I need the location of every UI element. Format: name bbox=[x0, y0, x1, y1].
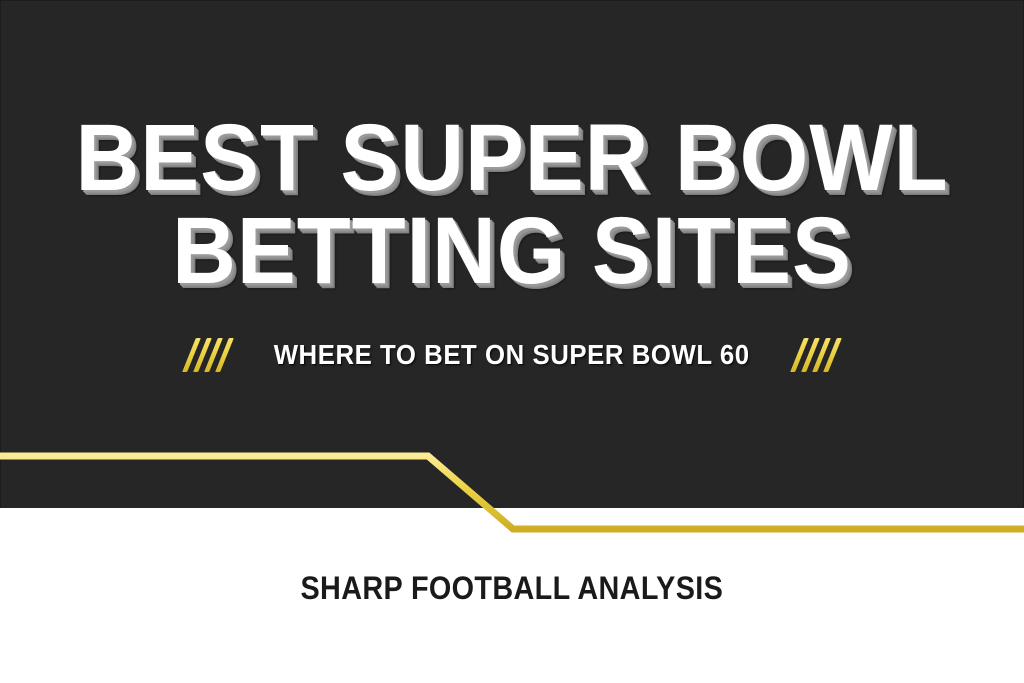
headline-line-1: BEST SUPER BOWL bbox=[36, 112, 988, 205]
stepped-yellow-rule bbox=[0, 430, 1024, 550]
headline-line-2: BETTING SITES bbox=[36, 205, 988, 298]
slash-decoration-left-icon bbox=[189, 338, 227, 372]
slash-decoration-right-icon bbox=[797, 338, 835, 372]
rule-path bbox=[0, 456, 1024, 529]
footer: SHARP FOOTBALL ANALYSIS bbox=[0, 570, 1024, 606]
brand-name: SHARP FOOTBALL ANALYSIS bbox=[301, 570, 724, 606]
promo-graphic: BEST SUPER BOWL BETTING SITES WHERE TO B… bbox=[0, 0, 1024, 683]
page-subtitle: WHERE TO BET ON SUPER BOWL 60 bbox=[274, 340, 750, 370]
subtitle-row: WHERE TO BET ON SUPER BOWL 60 bbox=[0, 338, 1024, 372]
page-title: BEST SUPER BOWL BETTING SITES bbox=[0, 112, 1024, 298]
